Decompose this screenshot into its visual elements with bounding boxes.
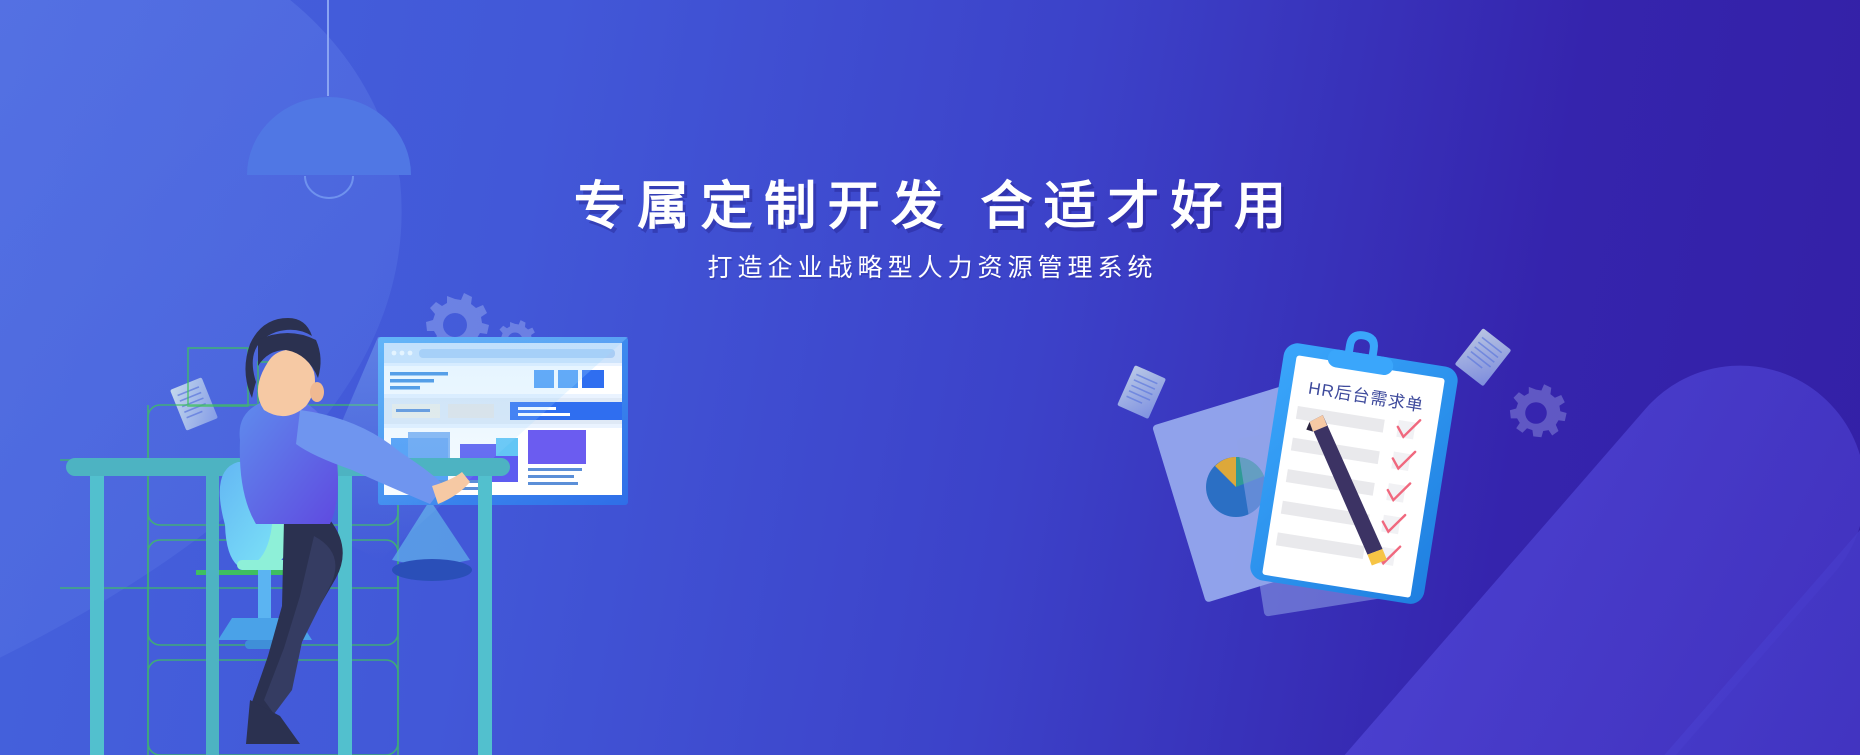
hero-banner: HR后台需求单 — [0, 0, 1860, 755]
clipboard: HR后台需求单 — [1248, 320, 1463, 606]
hr-clipboard-illustration: HR后台需求单 — [0, 0, 1860, 755]
